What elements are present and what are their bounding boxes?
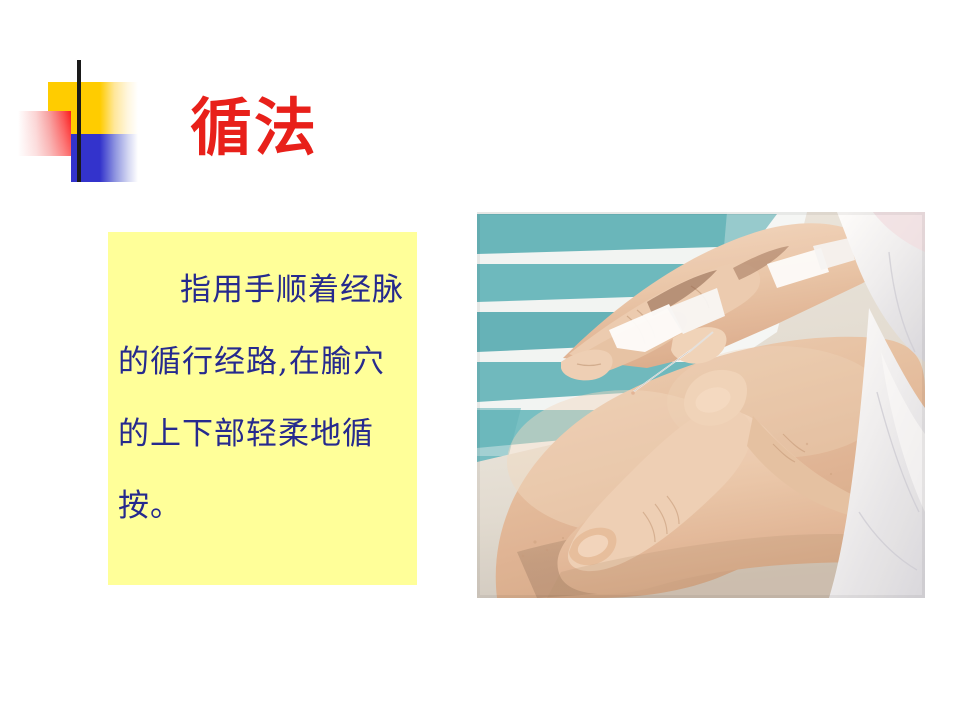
logo-vertical-bar bbox=[77, 60, 81, 182]
acupuncture-treatment-photo bbox=[477, 212, 925, 598]
photo-illustration bbox=[477, 212, 925, 598]
logo-blue-gradient bbox=[100, 134, 138, 182]
slide-canvas: 循法 指用手顺着经脉的循行经路,在腧穴的上下部轻柔地循按。 bbox=[0, 0, 960, 720]
design-mark-logo bbox=[18, 60, 138, 182]
logo-yellow-gradient bbox=[100, 82, 138, 134]
page-title: 循法 bbox=[190, 93, 318, 163]
caption-text: 指用手顺着经脉的循行经路,在腧穴的上下部轻柔地循按。 bbox=[118, 254, 407, 542]
logo-blue-square bbox=[71, 134, 100, 182]
logo-red-highlight bbox=[18, 111, 71, 156]
caption-panel: 指用手顺着经脉的循行经路,在腧穴的上下部轻柔地循按。 bbox=[108, 232, 417, 585]
